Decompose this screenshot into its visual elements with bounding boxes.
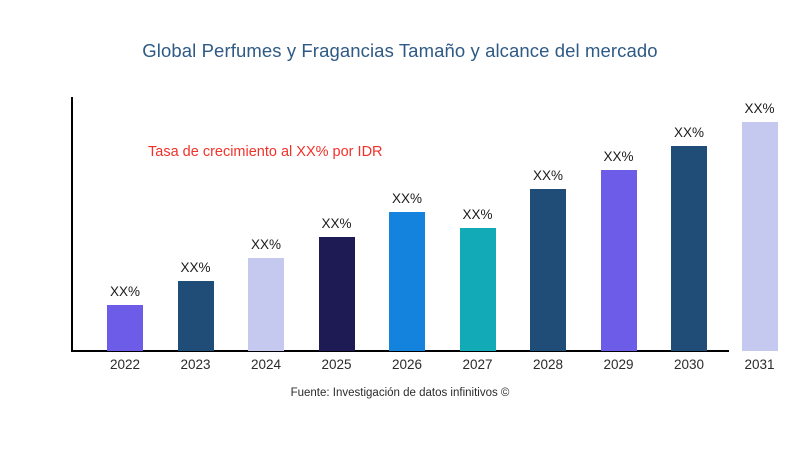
bar-2024[interactable] [248, 258, 284, 351]
bar-value-label-2027: XX% [448, 207, 508, 222]
x-axis-tick-2024: 2024 [231, 357, 301, 372]
bar-2028[interactable] [530, 189, 566, 351]
bar-value-label-2025: XX% [307, 216, 367, 231]
x-axis-tick-2028: 2028 [513, 357, 583, 372]
x-axis-tick-2030: 2030 [654, 357, 724, 372]
bar-value-label-2024: XX% [236, 237, 296, 252]
bar-value-label-2026: XX% [377, 191, 437, 206]
x-axis-tick-2026: 2026 [372, 357, 442, 372]
bar-value-label-2022: XX% [95, 284, 155, 299]
bar-value-label-2029: XX% [589, 149, 649, 164]
x-axis-tick-2023: 2023 [161, 357, 231, 372]
bar-2026[interactable] [389, 212, 425, 351]
bar-value-label-2031: XX% [730, 101, 790, 116]
bar-value-label-2030: XX% [659, 125, 719, 140]
bar-value-label-2023: XX% [166, 260, 226, 275]
bar-2030[interactable] [671, 146, 707, 351]
growth-rate-annotation: Tasa de crecimiento al XX% por IDR [148, 144, 383, 160]
chart-container: Global Perfumes y Fragancias Tamaño y al… [0, 0, 800, 450]
x-axis-tick-2029: 2029 [584, 357, 654, 372]
bar-2023[interactable] [178, 281, 214, 351]
x-axis-tick-2027: 2027 [443, 357, 513, 372]
x-axis-tick-2025: 2025 [302, 357, 372, 372]
bar-2031[interactable] [742, 122, 778, 351]
bar-2025[interactable] [319, 237, 355, 351]
source-caption: Fuente: Investigación de datos infinitiv… [0, 387, 800, 399]
bar-value-label-2028: XX% [518, 168, 578, 183]
plot-area: XX%2022XX%2023XX%2024XX%2025XX%2026XX%20… [0, 0, 800, 450]
x-axis-tick-2022: 2022 [90, 357, 160, 372]
bar-2029[interactable] [601, 170, 637, 351]
bar-2027[interactable] [460, 228, 496, 351]
bar-2022[interactable] [107, 305, 143, 351]
x-axis-tick-2031: 2031 [725, 357, 795, 372]
